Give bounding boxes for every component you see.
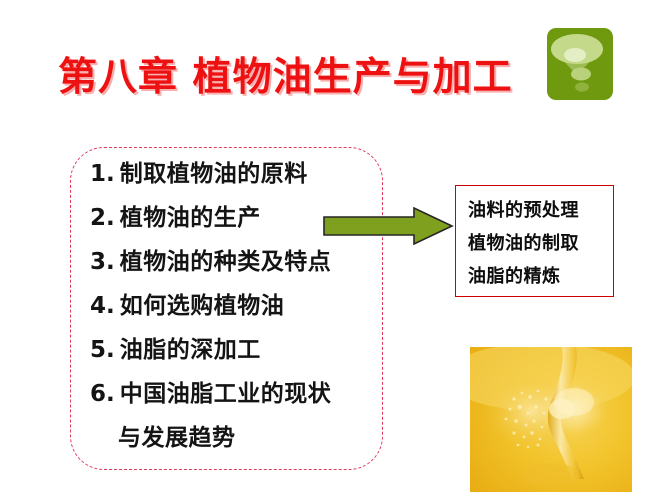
detail-line: 油脂的精炼 xyxy=(468,260,613,293)
list-item-number: 3. xyxy=(90,251,115,274)
list-item: 6. 中国油脂工业的现状 xyxy=(90,382,390,426)
list-item: 4. 如何选购植物油 xyxy=(90,294,390,338)
list-item-label: 中国油脂工业的现状 xyxy=(120,382,332,405)
list-item-label: 油脂的深加工 xyxy=(120,338,261,361)
list-item-label: 如何选购植物油 xyxy=(120,294,285,317)
list-item-number: 6. xyxy=(90,383,115,406)
slide-canvas: 第八章 植物油生产与加工 1. 制取植物油的原料 2. 植物油的生产 3. 植物… xyxy=(0,0,670,503)
list-item-number: 4. xyxy=(90,295,115,318)
list-item-number: 1. xyxy=(90,163,115,186)
page-title: 第八章 植物油生产与加工 xyxy=(58,58,513,99)
detail-line: 油料的预处理 xyxy=(468,194,613,227)
list-item: 1. 制取植物油的原料 xyxy=(90,162,390,206)
list-item-number: 2. xyxy=(90,207,115,230)
green-square-logo xyxy=(547,28,613,100)
list-item-label: 植物油的种类及特点 xyxy=(120,250,332,273)
list-item-label: 植物油的生产 xyxy=(120,206,261,229)
list-item-number: 5. xyxy=(90,339,115,362)
detail-line: 植物油的制取 xyxy=(468,227,613,260)
list-item: 3. 植物油的种类及特点 xyxy=(90,250,390,294)
right-arrow-icon xyxy=(322,206,454,246)
cooking-oil-photo xyxy=(470,347,632,492)
list-item-label: 制取植物油的原料 xyxy=(120,162,308,185)
list-item-continuation: 与发展趋势 xyxy=(90,426,390,470)
list-item: 5. 油脂的深加工 xyxy=(90,338,390,382)
detail-box: 油料的预处理 植物油的制取 油脂的精炼 xyxy=(455,185,614,297)
